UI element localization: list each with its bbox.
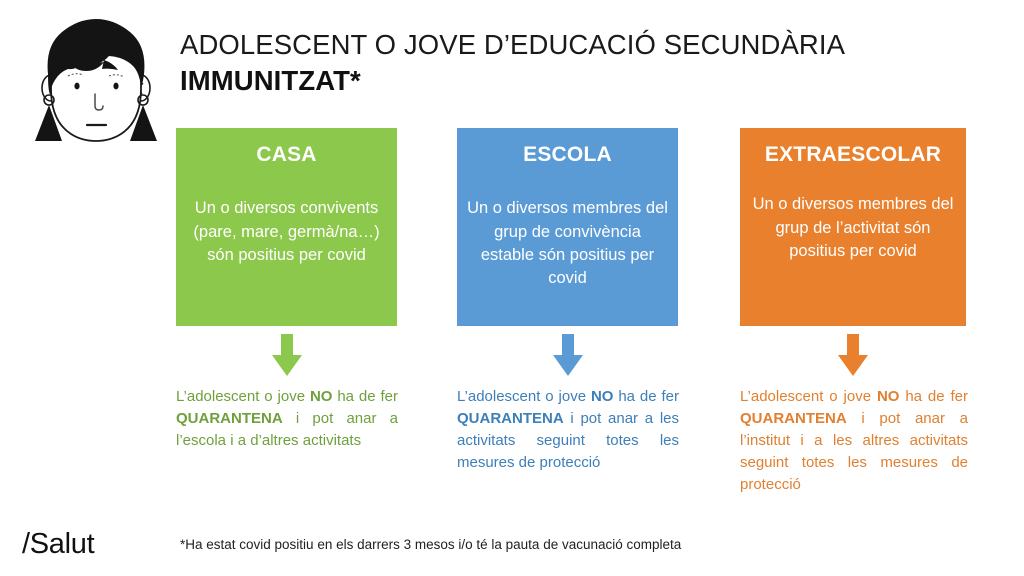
caption-escola-part1: L’adolescent o jove: [457, 388, 591, 405]
page-title: ADOLESCENT O JOVE D’EDUCACIÓ SECUNDÀRIA …: [180, 28, 980, 97]
arrow-wrap-escola: [457, 326, 678, 378]
student-face-illustration: [18, 8, 174, 170]
avatar-illustration: [18, 8, 174, 170]
arrow-down-icon: [832, 334, 874, 376]
caption-escola: L’adolescent o jove NO ha de fer QUARANT…: [457, 386, 679, 474]
column-casa: CASA Un o diversos convivents (pare, mar…: [176, 128, 397, 452]
card-title-escola: ESCOLA: [467, 142, 668, 167]
caption-escola-part2: ha de fer: [613, 388, 679, 405]
caption-extraescolar: L’adolescent o jove NO ha de fer QUARANT…: [740, 386, 968, 496]
arrow-down-icon: [266, 334, 308, 376]
card-title-extraescolar: EXTRAESCOLAR: [750, 142, 956, 167]
card-casa: CASA Un o diversos convivents (pare, mar…: [176, 128, 397, 326]
caption-extraescolar-bold2: QUARANTENA: [740, 410, 847, 427]
card-escola: ESCOLA Un o diversos membres del grup de…: [457, 128, 678, 326]
arrow-down-icon: [547, 334, 589, 376]
footnote: *Ha estat covid positiu en els darrers 3…: [180, 537, 681, 552]
caption-extraescolar-part2: ha de fer: [899, 388, 968, 405]
card-body-casa: Un o diversos convivents (pare, mare, ge…: [186, 197, 387, 267]
caption-extraescolar-part1: L’adolescent o jove: [740, 388, 877, 405]
caption-casa-bold1: NO: [310, 388, 333, 405]
page-title-line2: IMMUNITZAT*: [180, 64, 980, 98]
card-title-casa: CASA: [186, 142, 387, 167]
arrow-wrap-extraescolar: [740, 326, 966, 378]
arrow-wrap-casa: [176, 326, 397, 378]
page-title-line1: ADOLESCENT O JOVE D’EDUCACIÓ SECUNDÀRIA: [180, 28, 980, 62]
card-body-extraescolar: Un o diversos membres del grup de l’acti…: [750, 193, 956, 263]
caption-casa-bold2: QUARANTENA: [176, 410, 283, 427]
card-extraescolar: EXTRAESCOLAR Un o diversos membres del g…: [740, 128, 966, 326]
salut-logo: /Salut: [22, 528, 94, 561]
caption-extraescolar-bold1: NO: [877, 388, 900, 405]
caption-escola-bold1: NO: [591, 388, 614, 405]
card-body-escola: Un o diversos membres del grup de conviv…: [467, 197, 668, 291]
caption-escola-bold2: QUARANTENA: [457, 410, 564, 427]
column-escola: ESCOLA Un o diversos membres del grup de…: [457, 128, 678, 474]
column-extraescolar: EXTRAESCOLAR Un o diversos membres del g…: [740, 128, 966, 496]
caption-casa-part2: ha de fer: [332, 388, 398, 405]
caption-casa: L’adolescent o jove NO ha de fer QUARANT…: [176, 386, 398, 452]
caption-casa-part1: L’adolescent o jove: [176, 388, 310, 405]
